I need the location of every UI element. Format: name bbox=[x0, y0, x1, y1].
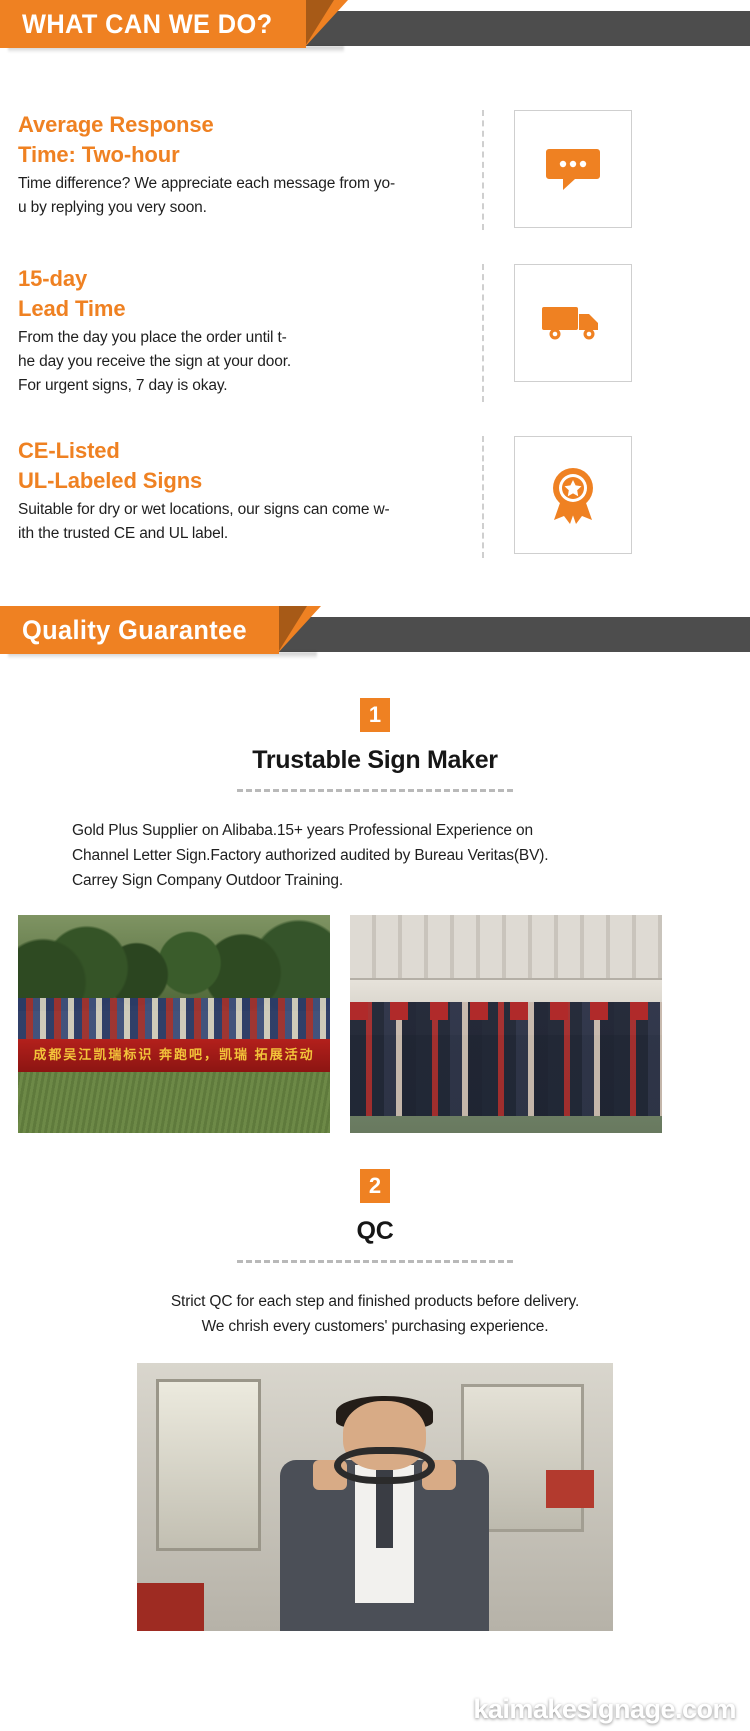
feature-heading-line2: Time: Two-hour bbox=[18, 140, 470, 170]
feature-body-line1: From the day you place the order until t… bbox=[18, 326, 470, 350]
paragraph-line1: Strict QC for each step and finished pro… bbox=[40, 1289, 710, 1314]
feature-icon-box bbox=[514, 436, 632, 554]
banner-tab: WHAT CAN WE DO? bbox=[0, 0, 306, 48]
divider bbox=[482, 436, 484, 558]
dashed-divider bbox=[237, 1260, 513, 1263]
feature-body-line1: Suitable for dry or wet locations, our s… bbox=[18, 498, 470, 522]
quality-block-trustable-sign-maker: 1 Trustable Sign Maker Gold Plus Supplie… bbox=[0, 698, 750, 1133]
block-title: QC bbox=[0, 1217, 750, 1246]
feature-item-ce-ul: CE-Listed UL-Labeled Signs Suitable for … bbox=[0, 436, 750, 558]
banner-title: WHAT CAN WE DO? bbox=[22, 0, 272, 48]
paragraph-line2: We chrish every customers' purchasing ex… bbox=[40, 1314, 710, 1339]
feature-heading-line1: Average Response bbox=[18, 110, 470, 140]
photo-red-collars bbox=[350, 1002, 662, 1019]
chat-bubble-icon bbox=[545, 145, 601, 193]
dashed-divider bbox=[237, 789, 513, 792]
photo-red-object bbox=[546, 1470, 594, 1508]
feature-list: Average Response Time: Two-hour Time dif… bbox=[0, 110, 750, 558]
feature-text: CE-Listed UL-Labeled Signs Suitable for … bbox=[18, 436, 470, 546]
block-paragraph: Gold Plus Supplier on Alibaba.15+ years … bbox=[0, 818, 750, 893]
watermark-text: kaimakesignage.com bbox=[0, 1694, 750, 1725]
photo-banner-text: 成都吴江凯瑞标识 奔跑吧，凯瑞 拓展活动 bbox=[18, 1039, 330, 1071]
feature-heading-line1: 15-day bbox=[18, 264, 470, 294]
feature-icon-box bbox=[514, 110, 632, 228]
banner-what-can-we-do: WHAT CAN WE DO? bbox=[0, 0, 750, 48]
block-title: Trustable Sign Maker bbox=[0, 746, 750, 775]
divider bbox=[482, 264, 484, 402]
photo-window-left bbox=[156, 1379, 261, 1551]
feature-item-lead-time: 15-day Lead Time From the day you place … bbox=[0, 264, 750, 402]
feature-heading-line2: UL-Labeled Signs bbox=[18, 466, 470, 496]
banner-wedge-icon bbox=[277, 606, 321, 654]
feature-text: Average Response Time: Two-hour Time dif… bbox=[18, 110, 470, 220]
feature-heading-line1: CE-Listed bbox=[18, 436, 470, 466]
photo-row: 成都吴江凯瑞标识 奔跑吧，凯瑞 拓展活动 bbox=[0, 915, 750, 1133]
award-ribbon-icon bbox=[545, 466, 601, 524]
delivery-truck-icon bbox=[541, 302, 605, 344]
feature-body-line2: ith the trusted CE and UL label. bbox=[18, 522, 470, 546]
paragraph-line2: Channel Letter Sign.Factory authorized a… bbox=[72, 843, 678, 868]
feature-icon-box bbox=[514, 264, 632, 382]
feature-heading-line2: Lead Time bbox=[18, 294, 470, 324]
feature-body-line2: u by replying you very soon. bbox=[18, 196, 470, 220]
feature-body-line3: For urgent signs, 7 day is okay. bbox=[18, 374, 470, 398]
step-number-badge: 1 bbox=[360, 698, 390, 732]
feature-body-line2: he day you receive the sign at your door… bbox=[18, 350, 470, 374]
banner-title: Quality Guarantee bbox=[22, 606, 247, 654]
feature-body-line1: Time difference? We appreciate each mess… bbox=[18, 172, 470, 196]
banner-tab: Quality Guarantee bbox=[0, 606, 279, 654]
photo-grass bbox=[18, 1072, 330, 1133]
banner-wedge-icon bbox=[304, 0, 348, 48]
feature-text: 15-day Lead Time From the day you place … bbox=[18, 264, 470, 398]
divider bbox=[482, 110, 484, 230]
photo-factory-workers bbox=[350, 915, 662, 1133]
paragraph-line1: Gold Plus Supplier on Alibaba.15+ years … bbox=[72, 818, 678, 843]
quality-block-qc: 2 QC Strict QC for each step and finishe… bbox=[0, 1169, 750, 1631]
photo-person bbox=[280, 1401, 489, 1631]
photo-inspected-ring-part bbox=[334, 1447, 435, 1484]
photo-roof bbox=[350, 915, 662, 980]
photo-trees bbox=[18, 915, 330, 1011]
feature-item-response-time: Average Response Time: Two-hour Time dif… bbox=[0, 110, 750, 230]
photo-red-floor bbox=[137, 1583, 204, 1631]
block-paragraph: Strict QC for each step and finished pro… bbox=[0, 1289, 750, 1339]
paragraph-line3: Carrey Sign Company Outdoor Training. bbox=[72, 868, 678, 893]
photo-qc-inspector bbox=[137, 1363, 613, 1631]
photo-team-outdoor-training: 成都吴江凯瑞标识 奔跑吧，凯瑞 拓展活动 bbox=[18, 915, 330, 1133]
photo-red-banner: 成都吴江凯瑞标识 奔跑吧，凯瑞 拓展活动 bbox=[18, 1039, 330, 1072]
banner-quality-guarantee: Quality Guarantee bbox=[0, 606, 750, 654]
step-number-badge: 2 bbox=[360, 1169, 390, 1203]
